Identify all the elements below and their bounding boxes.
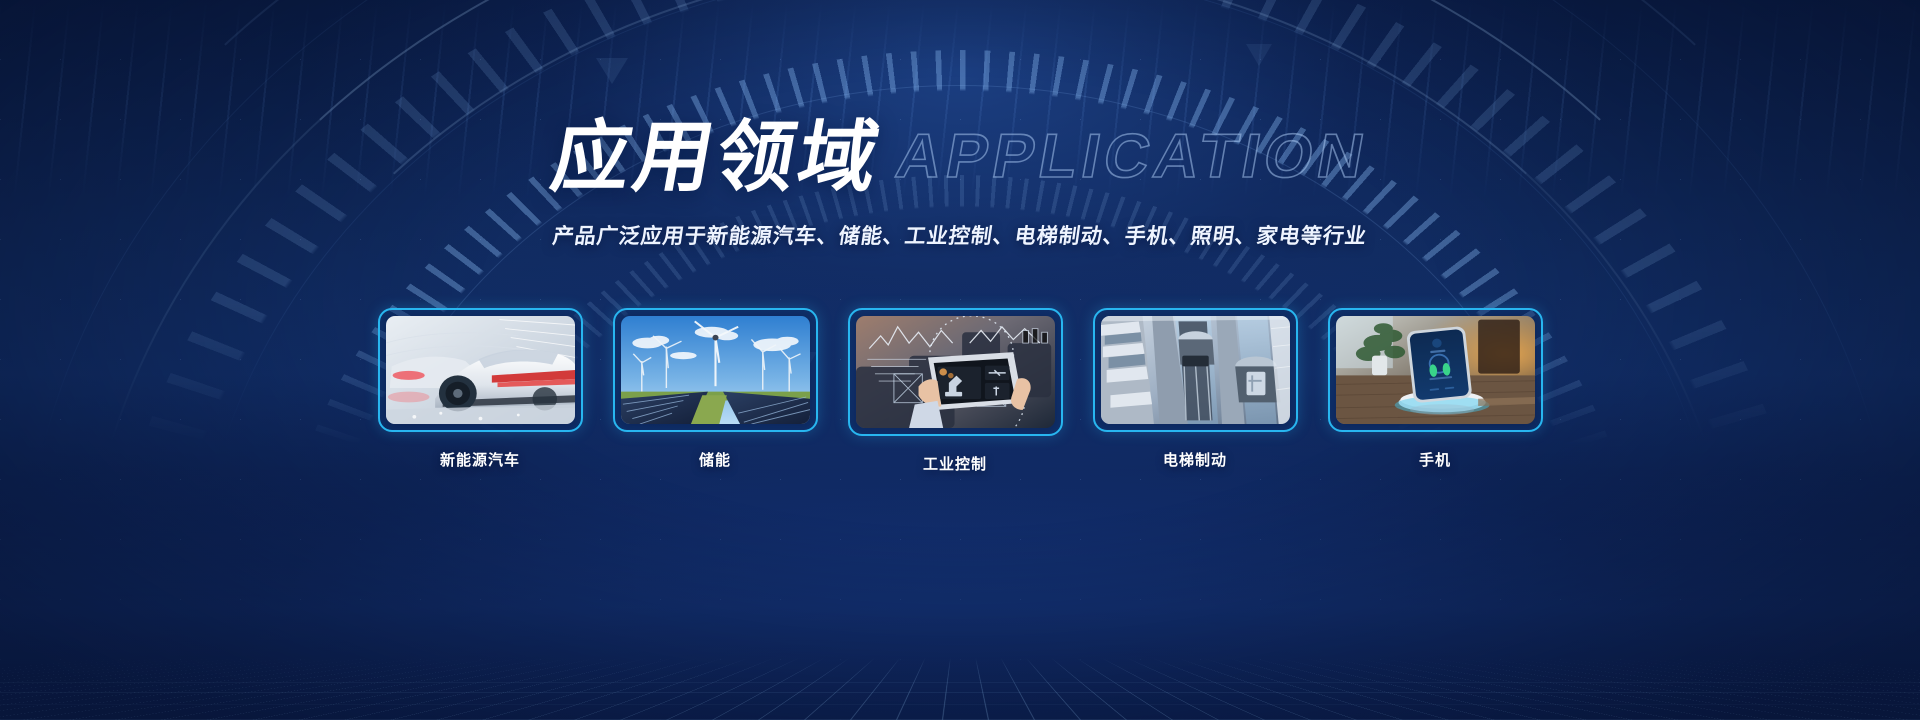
- application-card-mobile-phone[interactable]: 手机: [1328, 308, 1543, 470]
- card-label: 电梯制动: [1093, 449, 1298, 470]
- glass-elevators-photo: [1101, 316, 1290, 424]
- card-label: 储能: [613, 449, 818, 470]
- banner-subtitle: 产品广泛应用于新能源汽车、储能、工业控制、电梯制动、手机、照明、家电等行业: [0, 220, 1920, 250]
- decor-triangle-left: [596, 58, 628, 84]
- application-banner: 应用领域 APPLICATION 产品广泛应用于新能源汽车、储能、工业控制、电梯…: [0, 0, 1920, 720]
- application-card-new-energy-vehicle[interactable]: 新能源汽车: [378, 308, 583, 470]
- banner-header: 应用领域 APPLICATION 产品广泛应用于新能源汽车、储能、工业控制、电梯…: [0, 118, 1920, 250]
- application-card-elevator-braking[interactable]: 电梯制动: [1093, 308, 1298, 470]
- card-frame: [1093, 308, 1298, 432]
- application-card-industrial-control[interactable]: 工业控制: [848, 308, 1063, 474]
- title-row: 应用领域 APPLICATION: [0, 118, 1920, 196]
- card-frame: [613, 308, 818, 432]
- card-label: 工业控制: [848, 453, 1063, 474]
- page-title-english: APPLICATION: [891, 126, 1373, 188]
- smartphone-wireless-charger-photo: [1336, 316, 1535, 424]
- page-title: 应用领域: [546, 118, 888, 196]
- industrial-tablet-robot-arm-photo: [856, 316, 1055, 428]
- card-label: 新能源汽车: [378, 449, 583, 470]
- electric-sports-car-photo: [386, 316, 575, 424]
- application-card-list: 新能源汽车: [0, 308, 1920, 474]
- card-frame: [378, 308, 583, 432]
- application-card-energy-storage[interactable]: 储能: [613, 308, 818, 470]
- card-frame: [848, 308, 1063, 436]
- decor-triangle-right: [1246, 44, 1272, 66]
- solar-panels-wind-turbines-photo: [621, 316, 810, 424]
- card-frame: [1328, 308, 1543, 432]
- card-label: 手机: [1328, 449, 1543, 470]
